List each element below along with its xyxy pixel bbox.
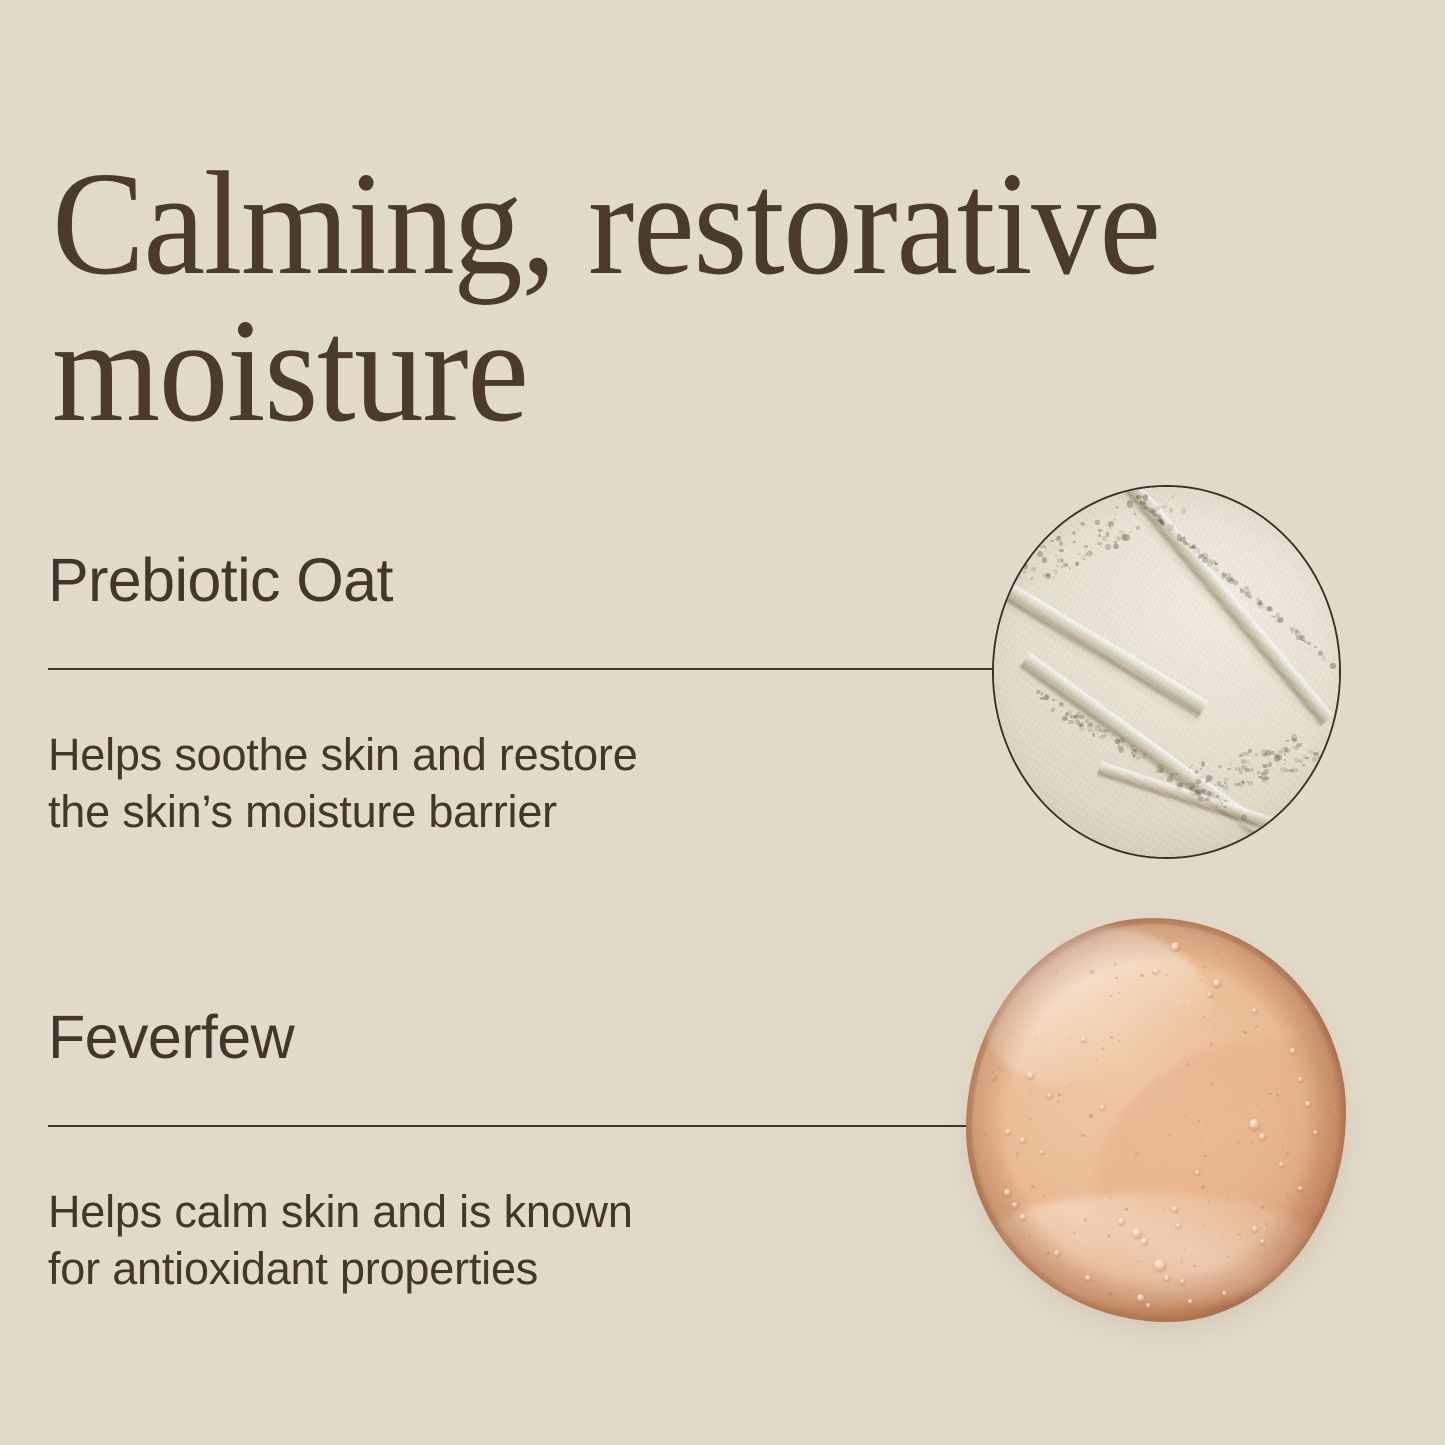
oat-powder-speck [1289, 769, 1294, 772]
oat-powder-speck [1219, 800, 1221, 802]
gel-fleck [1201, 1185, 1204, 1188]
oat-powder-speck [1284, 759, 1287, 761]
gel-bubble [1252, 1226, 1258, 1232]
oat-powder-speck [1187, 777, 1189, 779]
gel-fleck [1030, 1118, 1032, 1120]
gel-bubble [1164, 1275, 1170, 1281]
oat-powder-speck [1255, 753, 1258, 755]
oat-powder-speck [1176, 782, 1182, 789]
gel-fleck [1208, 1200, 1210, 1202]
gel-fleck [1237, 1141, 1239, 1143]
gel-fleck [1269, 1093, 1271, 1095]
gel-fleck [1108, 1292, 1111, 1295]
gel-bubble [1249, 1119, 1260, 1130]
gel-fleck [1090, 970, 1094, 974]
gel-fleck [1215, 951, 1218, 954]
oat-powder-speck [1130, 745, 1133, 747]
gel-bubble [1005, 1129, 1011, 1135]
gel-fleck [1256, 1025, 1258, 1027]
oat-powder-speck [1241, 759, 1245, 763]
gel-fleck [1209, 1018, 1211, 1020]
oat-powder-speck [1013, 563, 1015, 565]
oat-powder-speck [1065, 712, 1069, 716]
gel-fleck [1053, 1066, 1054, 1067]
oat-powder-speck [1095, 544, 1096, 545]
oat-powder-speck [1220, 785, 1224, 788]
oat-powder-speck [1059, 702, 1063, 705]
oat-powder-speck [1084, 545, 1088, 548]
gel-fleck [1029, 1092, 1031, 1094]
oat-powder-speck [1267, 606, 1271, 610]
oat-powder-speck [1314, 646, 1317, 648]
oat-powder-speck [1055, 539, 1057, 540]
gel-fleck [1115, 977, 1117, 979]
oat-powder-speck [1240, 752, 1245, 755]
gel-fleck [1251, 1141, 1254, 1144]
oat-powder-speck [1201, 554, 1204, 558]
gel-fleck [1140, 974, 1143, 977]
oat-powder-speck [1052, 576, 1054, 578]
oat-powder-speck [1134, 513, 1136, 515]
gel-fleck [1055, 971, 1058, 974]
oat-powder-speck [1115, 514, 1117, 516]
oat-powder-speck [1183, 536, 1185, 538]
oat-powder-speck [1242, 780, 1244, 782]
gel-fleck [1193, 1265, 1195, 1267]
gel-fleck [1045, 1258, 1047, 1260]
ingredient-title: Feverfew [48, 1005, 1008, 1069]
ingredient-description: Helps soothe skin and restore the skin’s… [48, 726, 1008, 840]
oat-powder-speck [1190, 791, 1195, 797]
gel-fleck [1105, 992, 1106, 993]
gel-fleck [1221, 979, 1223, 981]
gel-fleck [1318, 1079, 1321, 1082]
gel-fleck [1180, 1260, 1183, 1263]
gel-bubble [1313, 1130, 1318, 1135]
gel-blob-body [966, 918, 1346, 1322]
gel-fleck [1198, 1120, 1200, 1122]
oat-powder-speck [1099, 729, 1101, 732]
gel-fleck [1110, 1036, 1113, 1039]
oat-powder-speck [1248, 768, 1254, 772]
oat-powder-speck [1136, 496, 1138, 498]
gel-fleck [1286, 1193, 1288, 1195]
gel-fleck [1129, 1289, 1131, 1291]
oat-powder-speck [1136, 526, 1140, 531]
gel-fleck [1221, 1162, 1223, 1164]
ingredient-block-feverfew: Feverfew Helps calm skin and is known fo… [48, 1005, 1008, 1297]
gel-fleck [1118, 1040, 1120, 1042]
gel-fleck [1266, 1223, 1268, 1225]
gel-fleck [1163, 1209, 1165, 1211]
oat-powder-speck [1011, 570, 1016, 574]
gel-fleck [1202, 1133, 1203, 1134]
oat-powder-speck [1280, 751, 1282, 753]
gel-bubble [1171, 942, 1180, 951]
oat-powder-speck [1042, 557, 1047, 562]
oat-powder-speck [1040, 546, 1042, 547]
oat-powder-swatch-image [992, 485, 1341, 859]
oat-powder-speck [1098, 529, 1102, 532]
oat-powder-speck [1056, 565, 1058, 567]
oat-powder-speck [1206, 775, 1212, 781]
oat-powder-speck [1153, 514, 1157, 517]
oat-powder-speck [1087, 724, 1093, 731]
oat-powder-speck [1195, 770, 1199, 774]
oat-powder-speck [1167, 524, 1173, 530]
gel-fleck [1282, 1145, 1284, 1147]
oat-powder-speck [1113, 544, 1118, 549]
gel-bubble [1141, 1238, 1148, 1245]
oat-powder-speck [1233, 580, 1238, 585]
oat-powder-speck [1248, 781, 1253, 786]
gel-fleck [1028, 1234, 1031, 1237]
oat-powder-speck [1261, 749, 1267, 757]
oat-powder-speck [1186, 783, 1189, 785]
gel-fleck [1184, 1114, 1186, 1116]
oat-powder-speck [1224, 783, 1227, 785]
gel-fleck [1118, 992, 1120, 994]
gel-bubble [1020, 1214, 1026, 1220]
oat-powder-speck [1089, 551, 1094, 555]
oat-powder-speck [1031, 577, 1034, 580]
oat-powder-speck [1196, 779, 1201, 784]
oat-powder-speck [1085, 719, 1089, 723]
oat-powder-speck [1240, 590, 1244, 594]
oat-powder-speck [1119, 738, 1124, 743]
oat-powder-speck [1239, 770, 1243, 773]
oat-powder-speck [1040, 697, 1044, 700]
oat-powder-speck [1229, 762, 1232, 765]
oat-powder-speck [1226, 577, 1232, 582]
gel-fleck [1013, 1033, 1014, 1034]
oat-powder-speck [1218, 765, 1222, 769]
gel-fleck [1286, 1152, 1289, 1155]
oat-powder-speck [1112, 734, 1114, 735]
ingredient-description: Helps calm skin and is known for antioxi… [48, 1183, 1008, 1297]
oat-powder-speck [1279, 618, 1283, 622]
oat-powder-speck [1300, 635, 1305, 641]
gel-fleck [1222, 1232, 1223, 1233]
oat-powder-speck [1197, 796, 1202, 801]
gel-bubble [1118, 1218, 1125, 1225]
oat-powder-speck [1038, 690, 1041, 692]
oat-powder-speck [1086, 553, 1087, 555]
gel-fleck [1102, 1047, 1105, 1050]
oat-powder-speck [1063, 563, 1068, 567]
gel-fleck [1125, 1208, 1128, 1211]
gel-fleck [1204, 1155, 1206, 1157]
gel-fleck [1084, 1218, 1087, 1221]
oat-powder-speck [1181, 508, 1186, 514]
oat-powder-speck [1115, 506, 1119, 509]
oat-powder-speck [1330, 663, 1336, 668]
gel-fleck [1110, 1197, 1112, 1199]
oat-powder-speck [1134, 500, 1138, 503]
gel-fleck [1074, 1146, 1076, 1148]
gel-bubble [1085, 1275, 1091, 1281]
oat-powder-speck [1074, 715, 1076, 717]
gel-bubble [1279, 1162, 1284, 1167]
oat-powder-speck [1192, 544, 1196, 549]
oat-powder-speck [1079, 726, 1084, 730]
gel-fleck [1008, 1214, 1011, 1217]
oat-powder-speck [1004, 587, 1008, 592]
oat-powder-speck [1160, 768, 1164, 773]
oat-powder-speck [1139, 501, 1142, 503]
oat-powder-speck [1246, 592, 1249, 595]
oat-powder-speck [1290, 628, 1293, 630]
gel-fleck [1184, 1249, 1186, 1251]
gel-fleck [992, 1079, 995, 1082]
oat-powder-speck [1302, 764, 1305, 766]
oat-powder-speck [1072, 531, 1076, 535]
gel-fleck [1114, 963, 1117, 966]
oat-powder-speck [1115, 739, 1120, 744]
gel-bubble [1260, 1239, 1265, 1244]
oat-powder-speck [1042, 545, 1045, 548]
oat-powder-speck [1031, 567, 1036, 571]
oat-powder-speck [1075, 562, 1078, 566]
gel-bubble [1153, 968, 1159, 974]
oat-powder-speck [1216, 795, 1219, 799]
gel-bubble [1305, 1101, 1311, 1107]
oat-powder-speck [1070, 715, 1072, 717]
oat-powder-speck [1205, 799, 1207, 800]
oat-powder-speck [1312, 757, 1317, 762]
oat-powder-speck [1284, 753, 1286, 756]
oat-powder-speck [1191, 765, 1193, 766]
oat-powder-speck [1311, 648, 1313, 649]
oat-powder-speck [1271, 615, 1273, 617]
oat-powder-speck [1167, 776, 1173, 782]
oat-powder-speck [1080, 522, 1083, 525]
oat-powder-speck [1211, 562, 1213, 564]
oat-powder-speck [1051, 708, 1055, 712]
gel-fleck [1236, 1022, 1237, 1023]
gel-fleck [1214, 1029, 1215, 1030]
gel-fleck [1206, 1122, 1208, 1124]
ingredient-benefits-panel: Calming, restorative moisture Prebiotic … [0, 0, 1445, 1445]
oat-powder-speck [1083, 558, 1085, 560]
gel-fleck [1203, 1225, 1204, 1226]
oat-powder-speck [1076, 712, 1081, 715]
oat-powder-speck [1177, 535, 1182, 541]
gel-bubble [1213, 979, 1221, 987]
oat-powder-speck [1050, 540, 1053, 542]
ingredient-title: Prebiotic Oat [48, 548, 1008, 612]
oat-powder-speck [1175, 773, 1177, 775]
oat-powder-speck [1078, 553, 1081, 555]
oat-powder-speck [1313, 752, 1319, 756]
oat-powder-speck [1200, 790, 1203, 792]
oat-powder-speck [1224, 778, 1229, 781]
oat-powder-speck [1023, 564, 1026, 567]
oat-powder-speck [1095, 520, 1100, 525]
gel-bubble [1137, 1294, 1145, 1302]
oat-powder-speck [1318, 651, 1323, 655]
oat-powder-speck [1148, 508, 1154, 513]
oat-powder-speck [1129, 532, 1130, 533]
oat-powder-speck [1006, 565, 1009, 569]
connector-line-prebiotic-oat [48, 668, 1010, 670]
oat-powder-speck [1303, 755, 1307, 759]
oat-powder-speck [1234, 783, 1240, 787]
oat-powder-speck [1097, 542, 1101, 545]
gel-fleck [1242, 1141, 1243, 1142]
gel-fleck [1043, 1194, 1046, 1197]
gel-fleck [1057, 1100, 1059, 1102]
oat-powder-speck [1062, 716, 1067, 721]
gel-fleck [1089, 1114, 1092, 1117]
oat-powder-speck [1121, 535, 1124, 539]
gel-fleck [1213, 1122, 1215, 1124]
oat-powder-speck [1286, 769, 1288, 772]
gel-fleck [1016, 1152, 1020, 1156]
oat-powder-speck [1262, 764, 1267, 769]
oat-powder-speck [1275, 755, 1278, 759]
oat-powder-speck [1023, 571, 1026, 574]
oat-powder-speck [1118, 746, 1124, 753]
gel-fleck [1009, 1041, 1010, 1042]
gel-fleck [1113, 1158, 1114, 1159]
gel-fleck [1058, 1093, 1061, 1096]
gel-bubble [1298, 1077, 1303, 1082]
oat-powder-speck [1102, 729, 1108, 733]
gel-fleck [1327, 1111, 1330, 1114]
oat-powder-speck [1307, 642, 1311, 644]
gel-fleck [1114, 1006, 1115, 1007]
oat-powder-speck [1256, 599, 1262, 605]
oat-powder-speck [1123, 534, 1129, 541]
oat-powder-speck [1301, 743, 1303, 744]
oat-powder-speck [1105, 544, 1111, 550]
gel-fleck [1328, 1103, 1330, 1105]
oat-powder-speck [1171, 495, 1176, 498]
feverfew-gel-swatch-image [966, 918, 1346, 1322]
gel-bubble [1172, 1206, 1178, 1212]
oat-powder-speck [1189, 786, 1194, 791]
oat-powder-speck [1141, 496, 1144, 498]
gel-fleck [1203, 965, 1206, 968]
oat-powder-speck [1054, 569, 1058, 574]
gel-fleck [1226, 1130, 1228, 1132]
oat-powder-speck [1127, 501, 1130, 503]
ingredient-block-prebiotic-oat: Prebiotic Oat Helps soothe skin and rest… [48, 548, 1008, 840]
gel-bubble [1176, 1223, 1181, 1228]
oat-powder-speck [1076, 528, 1078, 530]
gel-fleck [1116, 1171, 1117, 1172]
oat-powder-speck [1155, 770, 1157, 773]
oat-powder-vignette [994, 487, 1339, 857]
oat-powder-speck [1114, 541, 1118, 544]
page-title: Calming, restorative moisture [52, 151, 1283, 444]
oat-powder-speck [1244, 586, 1249, 590]
gel-fleck [1096, 1058, 1098, 1060]
oat-powder-speck [1073, 541, 1075, 543]
connector-line-feverfew [48, 1125, 998, 1127]
gel-bubble [1259, 1133, 1266, 1140]
oat-powder-speck [1159, 519, 1161, 521]
oat-powder-speck [1264, 769, 1268, 774]
gel-fleck [1235, 1054, 1237, 1056]
gel-bubble [1207, 992, 1212, 997]
gel-fleck [994, 1076, 998, 1080]
oat-powder-speck [1155, 506, 1159, 511]
gel-fleck [1212, 996, 1214, 998]
